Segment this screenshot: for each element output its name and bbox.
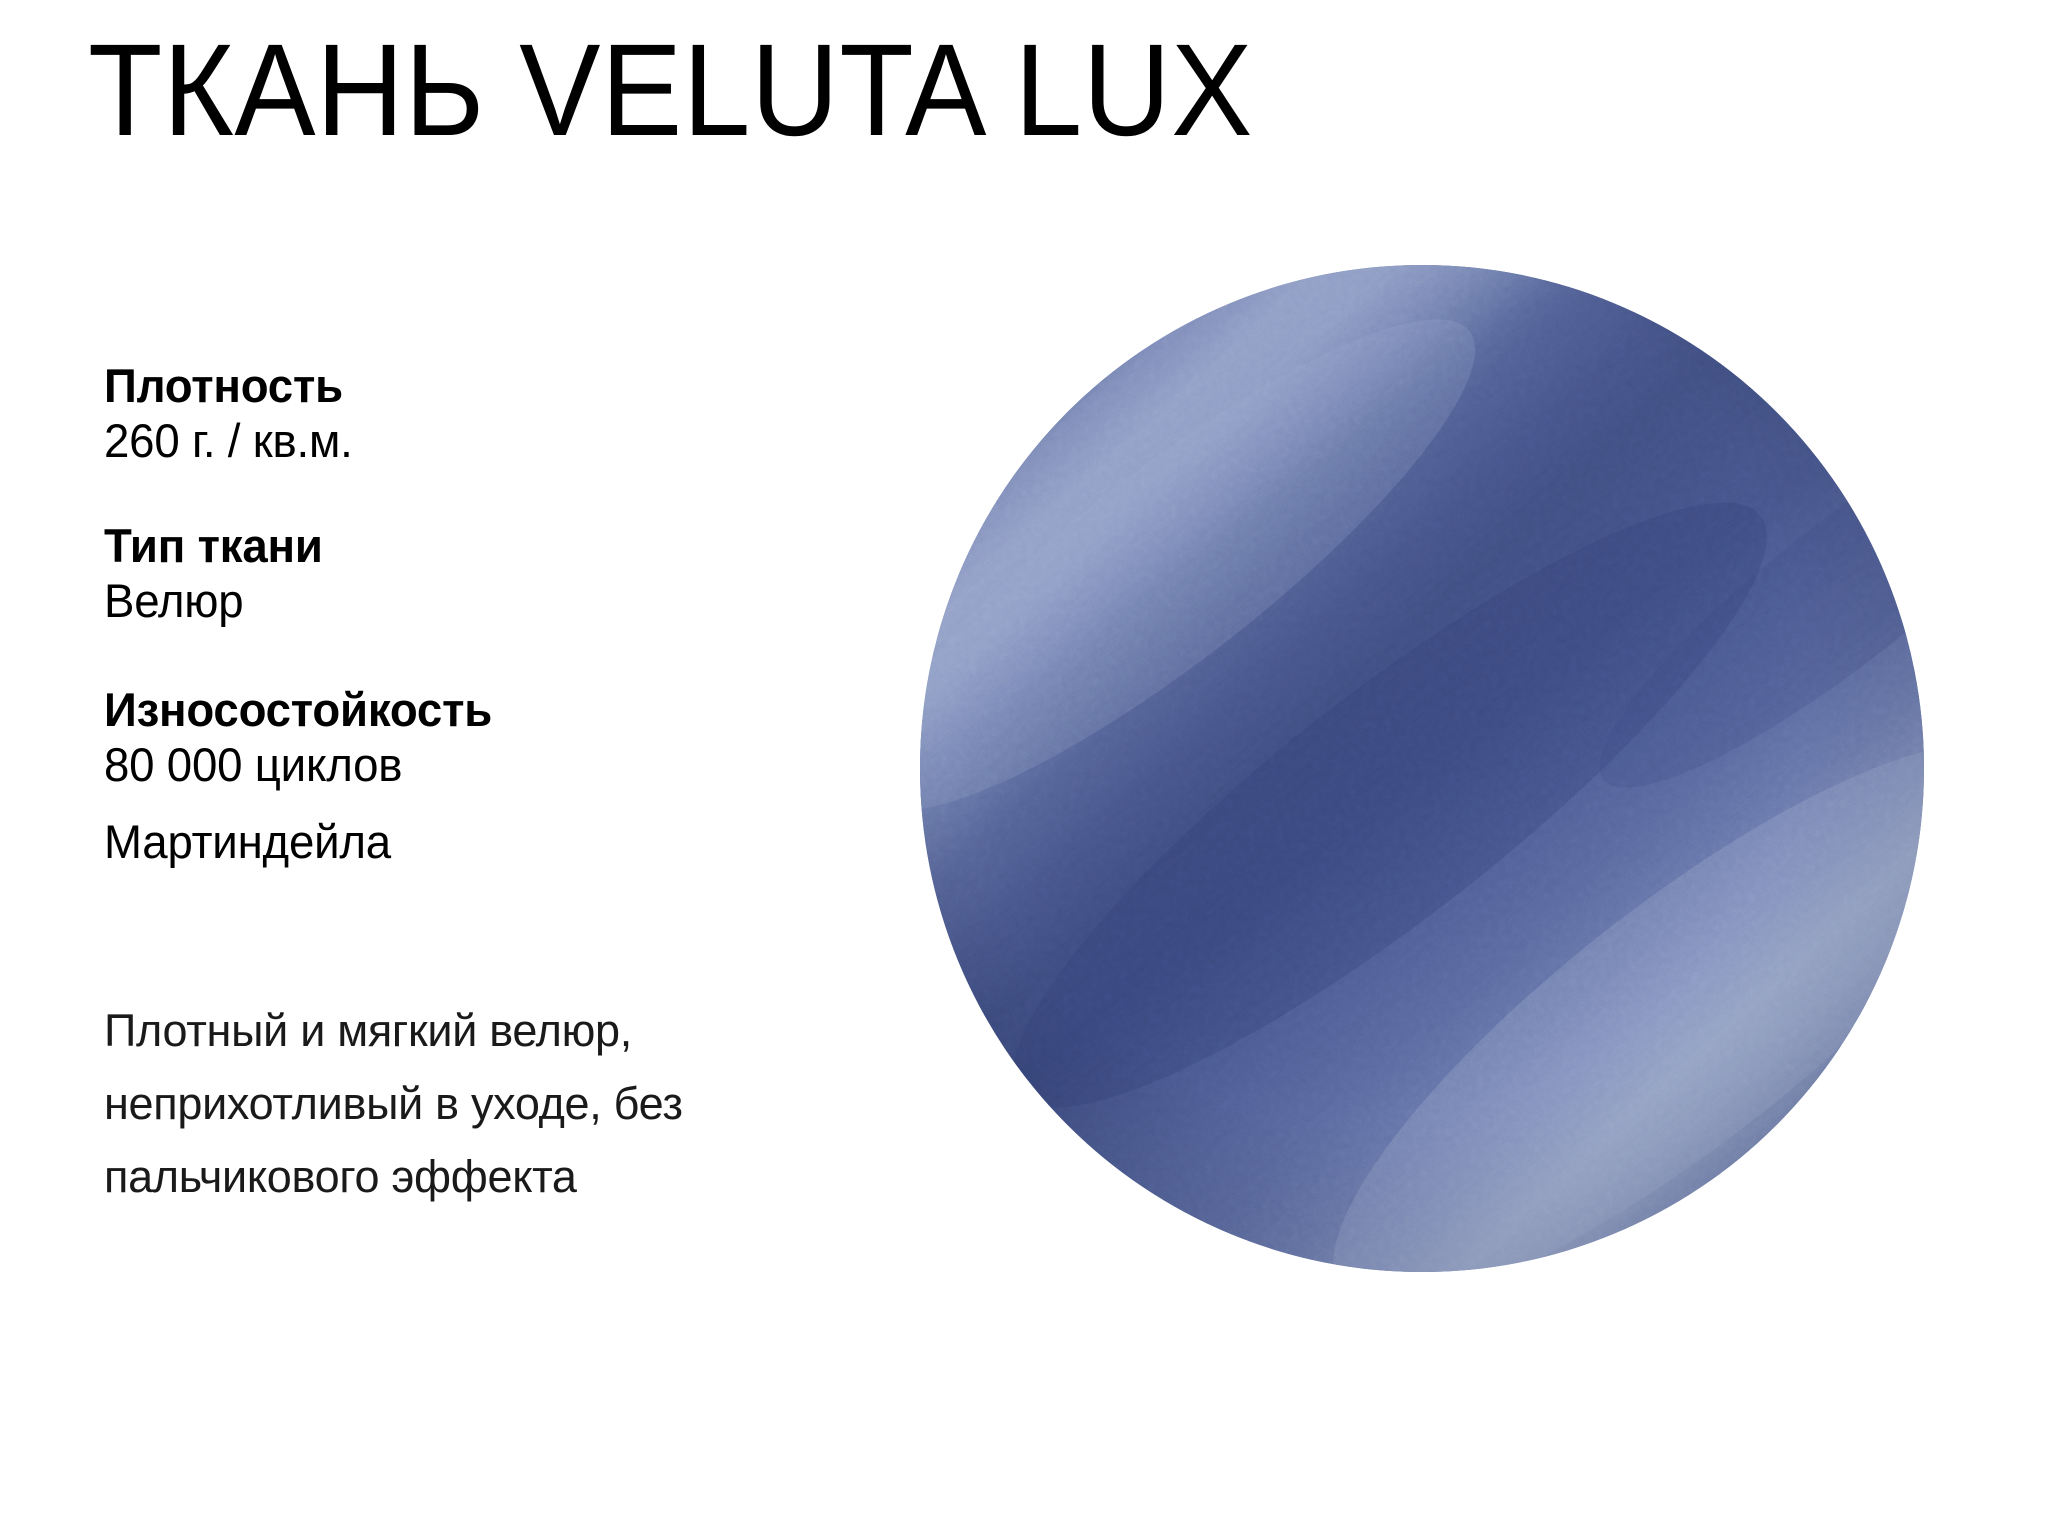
fabric-description: Плотный и мягкий велюр, неприхотливый в … [104, 995, 944, 1214]
fabric-texture-graphic [920, 265, 1924, 1272]
spec-item-fabric-type: Тип ткани Велюр [104, 520, 894, 628]
poster-canvas: ТКАНЬ VELUTA LUX Плотность 260 г. / кв.м… [0, 0, 2048, 1536]
spec-value-density: 260 г. / кв.м. [104, 413, 870, 468]
page-title: ТКАНЬ VELUTA LUX [88, 24, 1253, 155]
spec-label-fabric-type: Тип ткани [104, 520, 870, 573]
spec-item-density: Плотность 260 г. / кв.м. [104, 360, 894, 468]
spec-item-wear-resistance: Износостойкость 80 000 циклов Мартиндейл… [104, 684, 894, 870]
spec-value-fabric-type: Велюр [104, 573, 870, 628]
spec-value-wear-resistance-unit: Мартиндейла [104, 814, 870, 869]
spec-value-wear-resistance: 80 000 циклов [104, 737, 870, 792]
fabric-swatch-image [920, 265, 1924, 1272]
spec-label-density: Плотность [104, 360, 870, 413]
spec-list: Плотность 260 г. / кв.м. Тип ткани Велюр… [104, 360, 894, 928]
spec-label-wear-resistance: Износостойкость [104, 684, 870, 737]
